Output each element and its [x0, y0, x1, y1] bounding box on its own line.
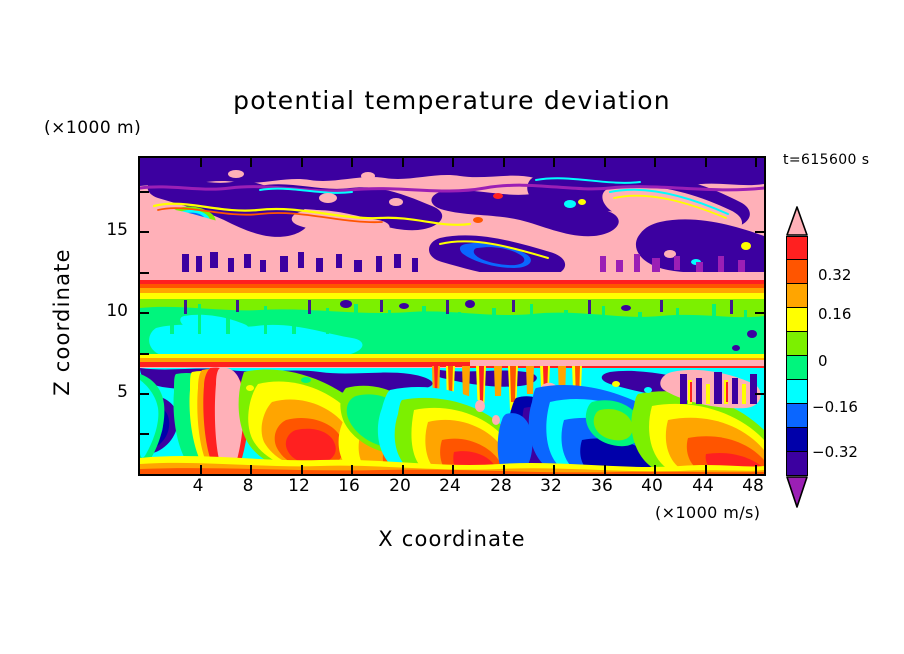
y-tick-mark	[140, 433, 149, 435]
x-tick-mark	[705, 465, 707, 474]
colorbar-band	[786, 356, 808, 380]
time-annotation: t=615600 s	[783, 152, 869, 168]
x-tick-mark	[604, 465, 606, 474]
colorbar-tick-label: 0.16	[818, 305, 851, 323]
x-tick-mark	[503, 465, 505, 474]
x-tick-mark-top	[351, 158, 353, 167]
x-tick-mark-top	[452, 158, 454, 167]
colorbar-band	[786, 260, 808, 284]
x-tick-mark-top	[402, 158, 404, 167]
x-tick-mark	[301, 465, 303, 474]
y-tick-mark	[140, 353, 149, 355]
x-tick-mark	[250, 465, 252, 474]
colorbar-band	[786, 452, 808, 476]
y-tick-mark	[140, 231, 149, 233]
x-tick-label: 20	[380, 476, 420, 496]
colorbar-band	[786, 308, 808, 332]
y-tick-mark-right	[755, 312, 764, 314]
y-tick-label: 15	[88, 220, 128, 240]
figure-canvas: potential temperature deviation (×1000 m…	[0, 0, 904, 654]
x-tick-mark-top	[503, 158, 505, 167]
colorbar-tick-label: −0.32	[812, 443, 858, 461]
y-axis-unit-label: (×1000 m)	[44, 118, 141, 138]
y-tick-mark-right	[755, 231, 764, 233]
x-tick-label: 12	[279, 476, 319, 496]
y-axis-title: Z coordinate	[50, 222, 74, 422]
x-tick-mark	[402, 465, 404, 474]
colorbar-cap-low	[786, 476, 808, 508]
y-tick-mark	[140, 272, 149, 274]
colorbar-tick-label: 0	[818, 352, 828, 370]
y-tick-mark	[140, 393, 149, 395]
y-tick-mark	[140, 191, 149, 193]
x-tick-label: 8	[228, 476, 268, 496]
x-tick-mark-top	[250, 158, 252, 167]
x-tick-label: 44	[683, 476, 723, 496]
x-tick-mark	[654, 465, 656, 474]
contour-plot-area	[138, 156, 766, 476]
x-tick-label: 36	[582, 476, 622, 496]
colorbar-band	[786, 404, 808, 428]
x-tick-label: 48	[733, 476, 773, 496]
y-tick-label: 10	[88, 301, 128, 321]
x-tick-mark-top	[604, 158, 606, 167]
colorbar-band	[786, 284, 808, 308]
colorbar-band	[786, 380, 808, 404]
colorbar-band	[786, 428, 808, 452]
x-tick-label: 24	[430, 476, 470, 496]
colorbar-band	[786, 236, 808, 260]
page-title: potential temperature deviation	[0, 86, 904, 115]
x-tick-label: 40	[632, 476, 672, 496]
x-tick-mark-top	[705, 158, 707, 167]
x-tick-mark-top	[553, 158, 555, 167]
x-tick-mark-top	[755, 158, 757, 167]
x-tick-mark	[553, 465, 555, 474]
x-tick-label: 4	[178, 476, 218, 496]
x-tick-mark	[200, 465, 202, 474]
x-tick-label: 28	[481, 476, 521, 496]
y-tick-label: 5	[88, 382, 128, 402]
colorbar-tick-label: −0.16	[812, 398, 858, 416]
x-tick-mark	[351, 465, 353, 474]
colorbar[interactable]	[786, 236, 808, 476]
x-tick-mark-top	[301, 158, 303, 167]
x-axis-title: X coordinate	[0, 527, 904, 551]
temperature-deviation-field	[140, 158, 764, 474]
y-tick-mark	[140, 312, 149, 314]
x-tick-mark	[755, 465, 757, 474]
x-tick-mark-top	[654, 158, 656, 167]
colorbar-band	[786, 332, 808, 356]
colorbar-tick-label: 0.32	[818, 266, 851, 284]
y-tick-mark-right	[755, 393, 764, 395]
x-tick-mark	[452, 465, 454, 474]
x-axis-unit-label: (×1000 m/s)	[655, 503, 760, 522]
colorbar-cap-high	[786, 206, 808, 236]
x-tick-label: 16	[329, 476, 369, 496]
x-tick-label: 32	[531, 476, 571, 496]
x-tick-mark-top	[200, 158, 202, 167]
